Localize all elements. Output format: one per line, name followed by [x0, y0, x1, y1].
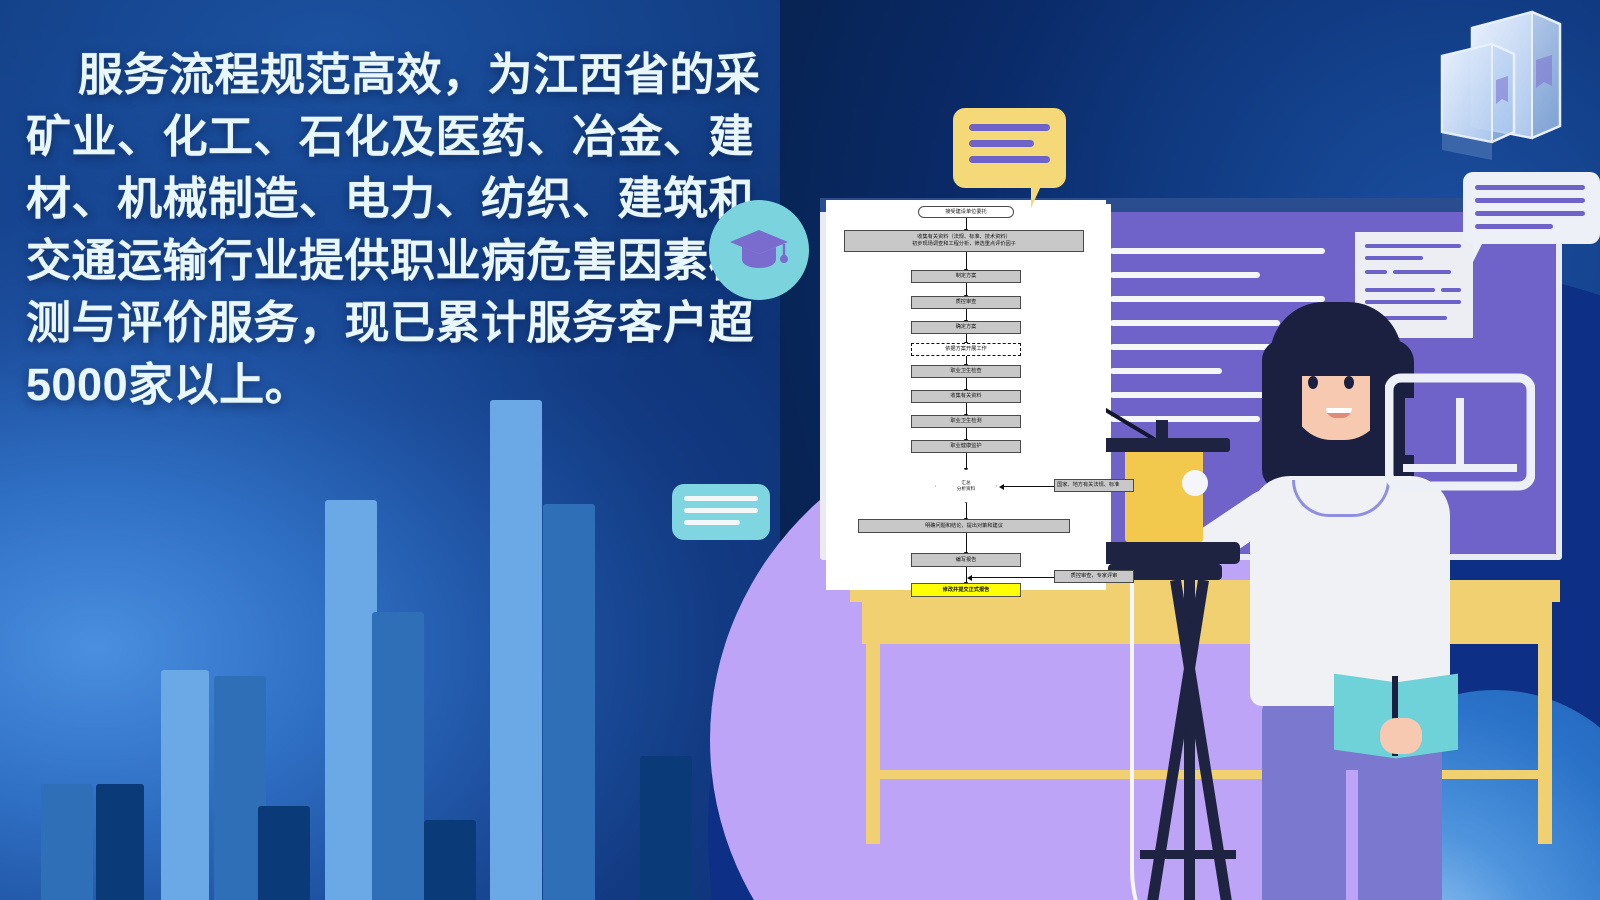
flow-node-n13: 明确问题和结论，提出对策和建议: [858, 519, 1070, 533]
presenter-hand-right: [1380, 718, 1422, 754]
graduation-cap-icon: [709, 200, 809, 300]
presenter-hair-front: [1270, 302, 1402, 376]
projector-cable: [1130, 560, 1254, 900]
projector-base-upper: [1090, 542, 1240, 564]
flow-node-n5: 确定方案: [911, 321, 1021, 334]
flow-node-n14: 编写报告: [911, 553, 1021, 567]
flow-node-n2: 收集有关资料（法规、标准、技术资料） 初步现场调查和工程分析，筛选重点评价因子: [844, 230, 1084, 252]
chart-bar: [640, 756, 692, 900]
poster-canvas: 接受建设单位委托 收集有关资料（法规、标准、技术资料） 初步现场调查和工程分析，…: [0, 0, 1600, 900]
presenter-eye-right: [1344, 376, 1354, 389]
flow-node-n12: 国家、地方有关法规、标准: [1054, 479, 1134, 492]
flow-node-n15: 质控审查，专家评审: [1054, 570, 1134, 583]
chart-bar: [161, 670, 209, 900]
chart-bar: [41, 784, 93, 900]
flow-node-n16: 修改并提交正式报告: [911, 583, 1021, 597]
flow-node-n4: 质控审查: [911, 296, 1021, 309]
flow-node-n11: 汇总 分析资料: [935, 469, 997, 503]
presenter-leg-gap: [1346, 770, 1358, 900]
chart-bar: [325, 500, 377, 900]
flow-node-n8: 收集有关资料: [911, 390, 1021, 403]
chart-bar: [258, 806, 310, 900]
decorative-bar-chart: [0, 380, 820, 900]
projector-lens-icon: [1182, 470, 1208, 496]
chart-bar: [424, 820, 476, 900]
flow-node-n7: 职业卫生检查: [911, 365, 1021, 378]
open-book-icon: [1385, 372, 1535, 492]
stacked-books-icon: [1380, 8, 1600, 183]
chart-bar: [543, 504, 595, 900]
chart-bar: [490, 400, 542, 900]
flow-node-n1: 接受建设单位委托: [918, 206, 1014, 218]
note-card-icon: [672, 484, 770, 540]
flow-node-n3: 制定方案: [911, 270, 1021, 283]
speech-bubble-icon: [953, 108, 1066, 188]
chart-bar: [372, 612, 424, 900]
desk-leg-left: [866, 644, 880, 844]
flow-node-n10: 职业健康监护: [911, 440, 1021, 453]
flow-node-n6: 依据方案开展工作: [911, 343, 1021, 356]
page-title: 服务流程规范高效，为江西省的采矿业、化工、石化及医药、冶金、建材、机械制造、电力…: [26, 44, 766, 416]
presenter-eye-left: [1308, 376, 1318, 389]
flow-node-n9: 职业卫生检测: [911, 415, 1021, 428]
projector-crossbar: [1098, 438, 1230, 452]
chart-bar: [96, 784, 144, 900]
workflow-flowchart: 接受建设单位委托 收集有关资料（法规、标准、技术资料） 初步现场调查和工程分析，…: [826, 200, 1106, 590]
